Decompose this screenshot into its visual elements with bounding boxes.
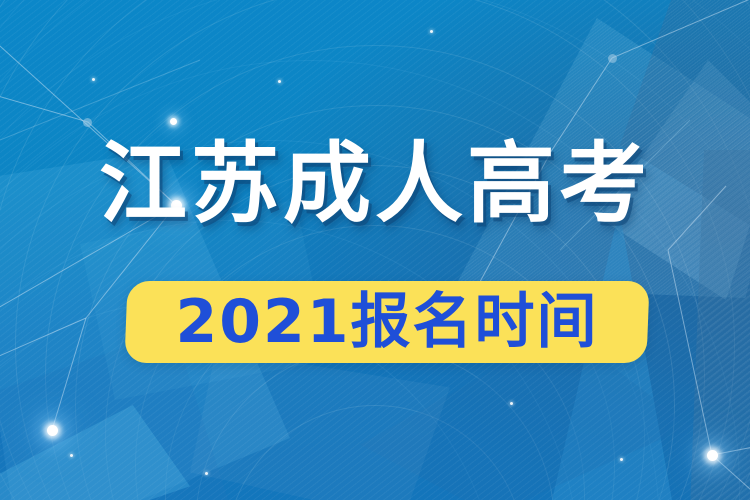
glow-node (170, 118, 177, 125)
page-title: 江苏成人高考 (99, 136, 651, 232)
star-dot (70, 454, 73, 457)
arc-ripple-pattern (0, 0, 750, 500)
polygon-shape (0, 405, 190, 500)
glow-node (47, 425, 58, 436)
highlight-band: 2021报名时间 (124, 281, 649, 363)
star-dot (205, 472, 208, 475)
network-node-layer (0, 0, 750, 500)
star-dot (430, 30, 433, 33)
star-dot (92, 78, 95, 81)
background-gradient (0, 0, 750, 500)
node-marker (608, 54, 617, 63)
arc-ripple-pattern-secondary (0, 0, 750, 500)
star-dot (278, 80, 281, 83)
star-dot (510, 402, 513, 405)
star-dot (620, 458, 623, 461)
glow-node (707, 450, 718, 461)
subtitle-text: 2021报名时间 (126, 281, 648, 363)
diagonal-hatch-pattern (0, 0, 750, 500)
network-lines (0, 0, 750, 500)
title-container: 江苏成人高考 (0, 136, 750, 232)
polygon-decoration-layer (0, 0, 750, 500)
promo-banner: 江苏成人高考 2021报名时间 (0, 0, 750, 500)
node-marker (83, 118, 92, 127)
polygon-shape (190, 350, 450, 500)
